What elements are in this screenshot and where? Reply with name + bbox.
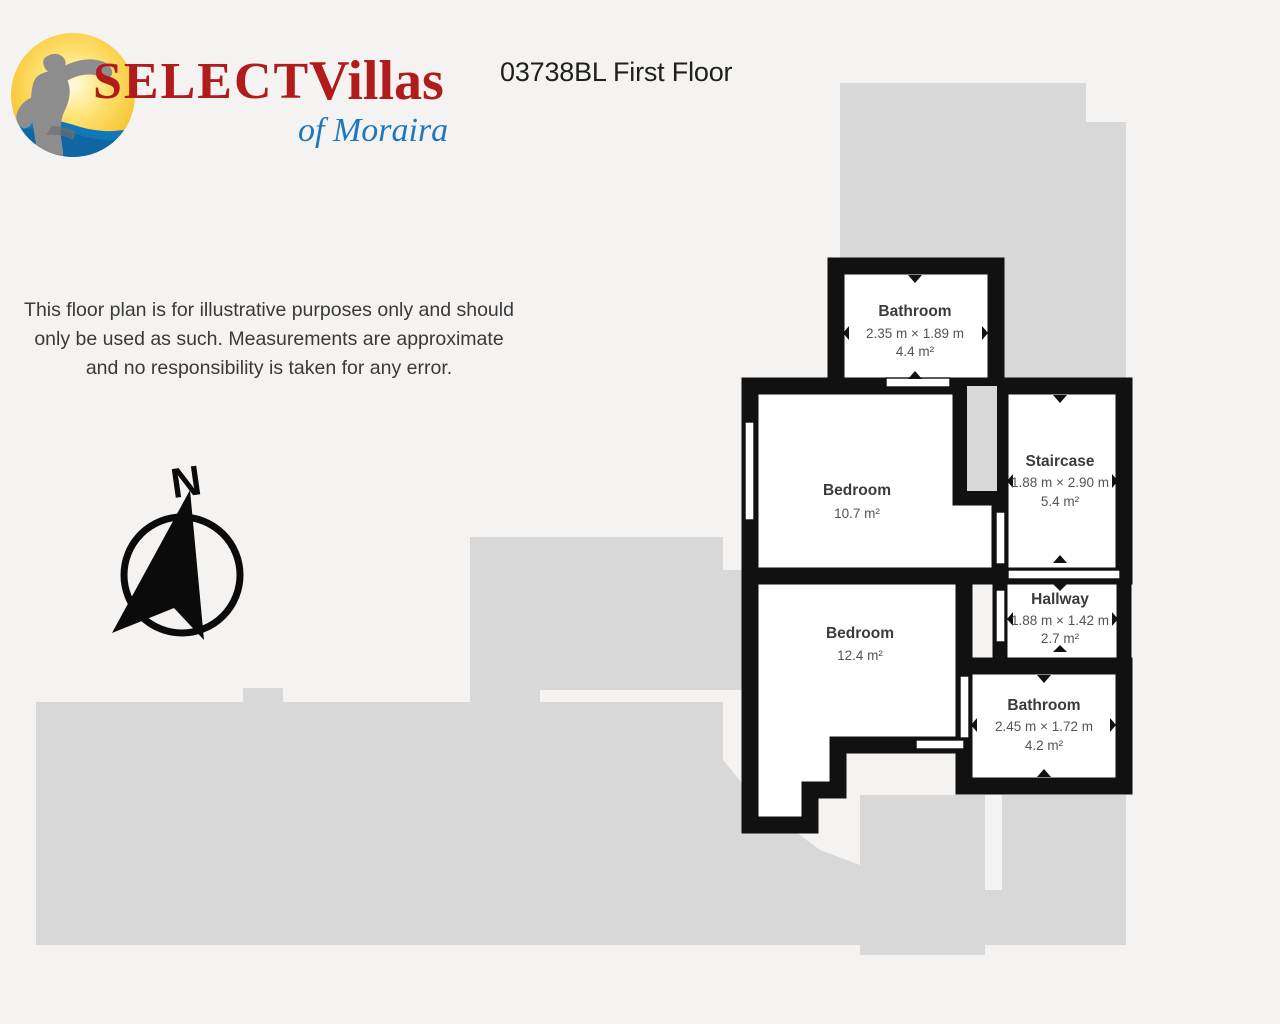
room-area: 4.2 m² bbox=[1025, 738, 1064, 753]
room-area: 4.4 m² bbox=[896, 344, 935, 359]
room-dimensions: 1.88 m × 1.42 m bbox=[1011, 613, 1109, 628]
room-name: Bathroom bbox=[1007, 697, 1080, 714]
room-name: Bathroom bbox=[878, 303, 951, 320]
room-dimensions: 2.35 m × 1.89 m bbox=[866, 326, 964, 341]
room-dimensions: 2.45 m × 1.72 m bbox=[995, 719, 1093, 734]
floor-plan-drawing: Bathroom 2.35 m × 1.89 m 4.4 m² Bedroom … bbox=[0, 0, 1280, 1024]
room-name: Staircase bbox=[1026, 453, 1095, 470]
room-area: 2.7 m² bbox=[1041, 631, 1080, 646]
exterior-alcove bbox=[967, 386, 997, 491]
room-name: Bedroom bbox=[823, 482, 891, 499]
room-dimensions: 1.88 m × 2.90 m bbox=[1011, 475, 1109, 490]
room-area: 5.4 m² bbox=[1041, 494, 1080, 509]
room-area: 12.4 m² bbox=[837, 648, 883, 663]
room-name: Bedroom bbox=[826, 625, 894, 642]
room-area: 10.7 m² bbox=[834, 506, 880, 521]
room-name: Hallway bbox=[1031, 591, 1089, 608]
